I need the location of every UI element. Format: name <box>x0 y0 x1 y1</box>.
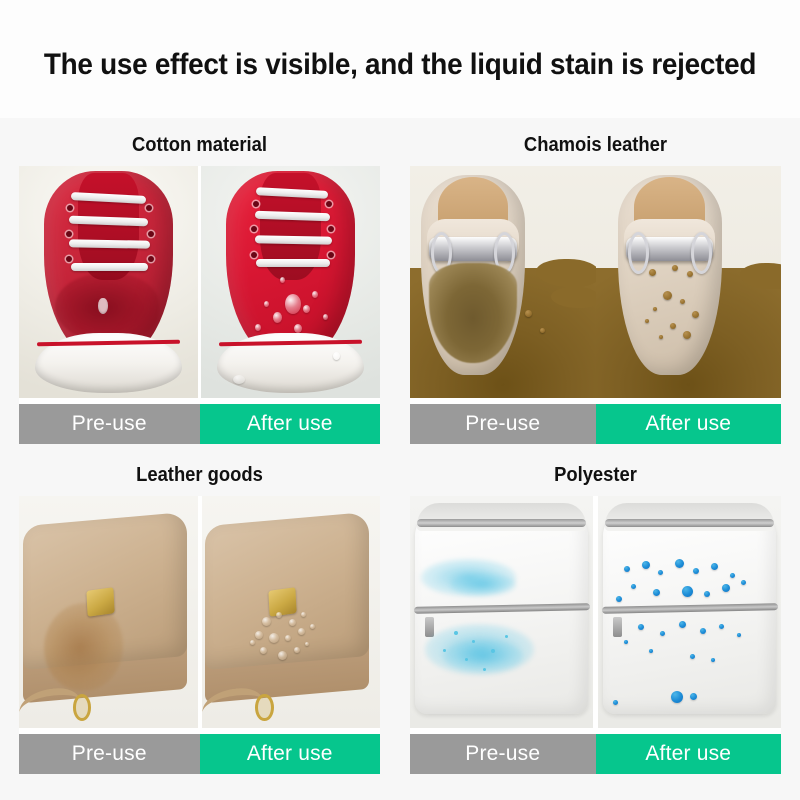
label-pre-use: Pre-use <box>19 404 200 444</box>
handbag-plaque <box>269 587 297 616</box>
sneaker-eyelet <box>253 201 259 207</box>
sneaker-lace <box>69 240 150 249</box>
quadrant-title-leather-goods: Leather goods <box>33 464 365 487</box>
mud-splash <box>551 287 596 308</box>
loafer-after <box>618 175 722 375</box>
ink-speck <box>483 668 486 671</box>
sneaker-lace <box>71 263 148 271</box>
mud-bead <box>680 299 685 304</box>
backpack-top-zipper <box>605 519 773 527</box>
photo-pair-polyester <box>410 496 781 728</box>
ink-droplet <box>741 580 746 585</box>
photo-leather-pre-use <box>19 496 198 728</box>
comparison-panel-cotton-material: Pre-use After use <box>19 166 380 444</box>
comparison-panel-polyester: Pre-use After use <box>410 496 781 774</box>
ink-speck <box>491 649 495 653</box>
photo-pair-leather-goods <box>19 496 380 728</box>
label-after-use: After use <box>596 734 782 774</box>
label-after-use: After use <box>200 734 381 774</box>
handbag-buckle <box>255 694 273 721</box>
mud-bead <box>687 271 693 277</box>
quadrant-title-chamois-leather: Chamois leather <box>425 134 766 157</box>
photo-leather-after-use <box>202 496 381 728</box>
sneaker-lace <box>256 259 329 267</box>
sneaker-lace <box>255 235 332 244</box>
water-bead <box>294 324 302 333</box>
ink-droplet <box>624 640 628 644</box>
ink-droplet <box>679 621 686 628</box>
mud-bead <box>683 331 691 339</box>
handbag-plaque <box>86 587 114 616</box>
water-bead <box>262 617 271 626</box>
liquid-drip <box>98 298 108 314</box>
product-comparison-infographic: The use effect is visible, and the liqui… <box>0 0 800 800</box>
label-after-use: After use <box>200 404 381 444</box>
quadrant-cotton-material: Cotton material <box>19 134 380 444</box>
label-bar-chamois-leather: Pre-use After use <box>410 404 781 444</box>
horsebit-hardware <box>429 237 516 261</box>
backpack-zipper-pull <box>425 617 434 637</box>
horsebit-ring <box>691 232 712 274</box>
quadrant-leather-goods: Leather goods <box>19 464 380 774</box>
photo-polyester-after-use <box>598 496 781 728</box>
mud-bead <box>653 307 657 311</box>
comparison-panel-leather-goods: Pre-use After use <box>19 496 380 774</box>
ink-droplet <box>613 700 618 705</box>
water-bead <box>273 312 282 323</box>
label-bar-cotton-material: Pre-use After use <box>19 404 380 444</box>
ink-speck <box>454 631 458 635</box>
mud-bead <box>692 311 699 318</box>
photo-polyester-pre-use <box>410 496 593 728</box>
mud-stain-soaked <box>429 263 516 363</box>
mud-bead <box>649 269 656 276</box>
sneaker-eyelet <box>66 231 72 237</box>
handbag-buckle <box>73 694 91 721</box>
ink-droplet <box>653 589 660 596</box>
quadrant-title-cotton-material: Cotton material <box>33 134 365 157</box>
label-pre-use: Pre-use <box>410 734 596 774</box>
water-bead <box>233 375 245 384</box>
horsebit-ring <box>628 232 649 274</box>
label-bar-polyester: Pre-use After use <box>410 734 781 774</box>
sneaker-eyelet <box>328 252 334 258</box>
ink-droplet <box>675 559 684 568</box>
ink-droplet <box>737 633 741 637</box>
water-bead <box>255 324 261 331</box>
label-pre-use: Pre-use <box>410 404 596 444</box>
photo-chamois-after-use <box>596 166 782 398</box>
mud-bead <box>670 323 676 329</box>
sneaker-eyelet <box>251 252 257 258</box>
photo-cotton-after-use <box>201 166 380 398</box>
ink-droplet <box>690 654 695 659</box>
photo-pair-cotton-material <box>19 166 380 398</box>
label-bar-leather-goods: Pre-use After use <box>19 734 380 774</box>
ink-droplet <box>719 624 724 629</box>
label-after-use: After use <box>596 404 782 444</box>
ink-droplet <box>690 693 697 700</box>
horsebit-hardware <box>626 237 713 261</box>
ink-droplet <box>642 561 650 569</box>
quadrant-title-polyester: Polyester <box>425 464 766 487</box>
loafer-pre <box>421 175 525 375</box>
photo-cotton-pre-use <box>19 166 198 398</box>
mud-bead <box>659 335 663 339</box>
sneaker-eyelet <box>148 231 154 237</box>
page-title: The use effect is visible, and the liqui… <box>28 48 772 82</box>
quadrant-polyester: Polyester <box>410 464 781 774</box>
water-bead <box>264 301 269 307</box>
mud-bead <box>645 319 649 323</box>
ink-droplet <box>638 624 644 630</box>
mud-bead <box>672 265 678 271</box>
mud-bead <box>663 291 672 300</box>
water-bead <box>289 619 296 626</box>
mud-bead <box>525 310 532 317</box>
ink-stain-soaked <box>450 573 516 596</box>
backpack-top-zipper <box>417 519 585 527</box>
backpack-zipper-pull <box>613 617 622 637</box>
quadrant-chamois-leather: Chamois leather <box>410 134 781 444</box>
ink-droplet <box>671 691 683 703</box>
photo-pair-chamois-leather <box>410 166 781 398</box>
headline-band: The use effect is visible, and the liqui… <box>0 0 800 118</box>
water-bead <box>250 640 255 645</box>
label-pre-use: Pre-use <box>19 734 200 774</box>
ink-droplet <box>730 573 735 578</box>
ink-droplet <box>624 566 630 572</box>
water-bead <box>255 631 263 639</box>
water-bead <box>285 294 301 314</box>
ink-droplet <box>660 631 665 636</box>
comparison-panel-chamois-leather: Pre-use After use <box>410 166 781 444</box>
photo-chamois-pre-use <box>410 166 596 398</box>
